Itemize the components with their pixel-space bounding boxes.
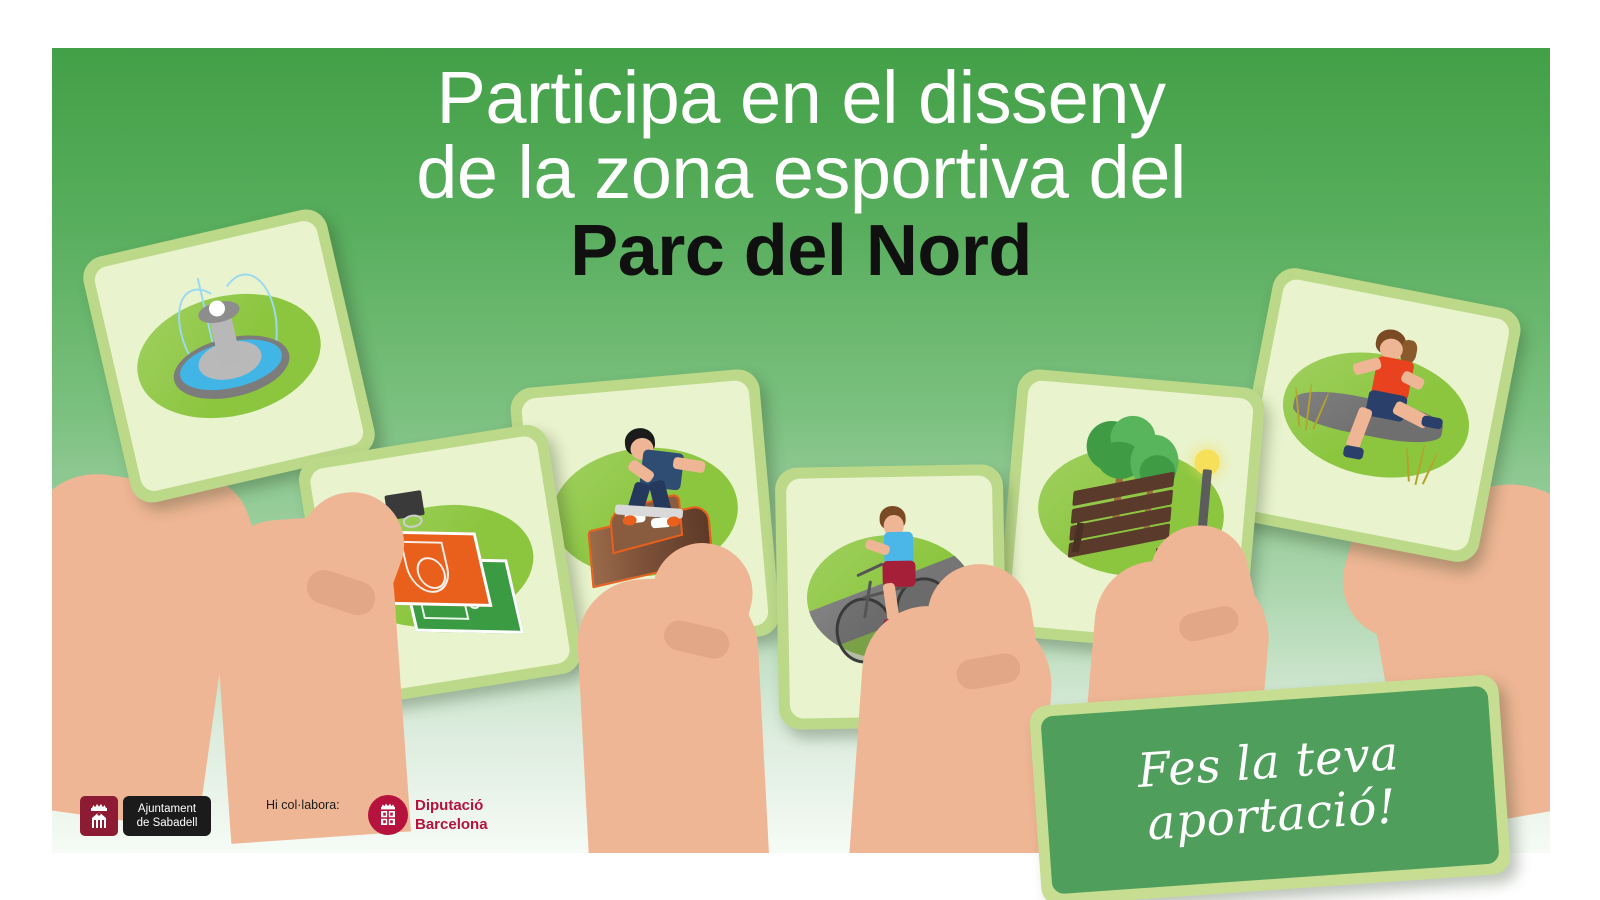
cta-card[interactable]: Fes la teva aportació! (1029, 674, 1512, 900)
hand-middle (575, 573, 770, 853)
diputacio-line-2: Barcelona (415, 815, 488, 834)
diputacio-seal-icon (368, 795, 408, 835)
diputacio-logo-text: Diputació Barcelona (415, 796, 488, 834)
headline-line-1: Participa en el disseny (52, 60, 1550, 135)
diputacio-line-1: Diputació (415, 796, 488, 815)
card-running[interactable] (1228, 264, 1525, 565)
cta-text: Fes la teva aportació! (1136, 728, 1404, 851)
ajuntament-line-2: de Sabadell (137, 816, 198, 830)
hand-right-1 (847, 602, 1056, 853)
headline-line-2: de la zona esportiva del (52, 135, 1550, 210)
hand-left-2 (209, 512, 411, 844)
runner-icon (1241, 277, 1512, 553)
ajuntament-line-1: Ajuntament (138, 802, 196, 816)
sabadell-crest-icon (80, 796, 118, 836)
banner-stage: Participa en el disseny de la zona espor… (0, 0, 1600, 900)
ajuntament-logo-text: Ajuntament de Sabadell (123, 796, 211, 836)
fountain-icon (92, 218, 366, 493)
hand-left-1 (52, 465, 245, 831)
collaborate-label: Hi col·labora: (266, 798, 340, 812)
